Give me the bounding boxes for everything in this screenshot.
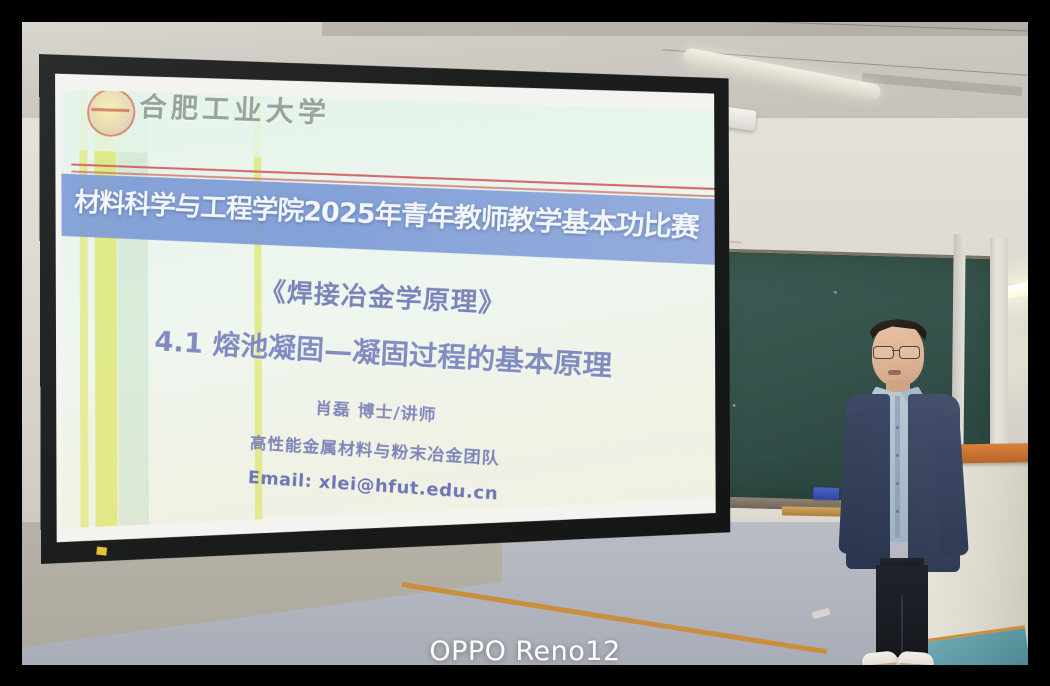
- slide-body: 《焊接冶金学原理》 4.1 熔池凝固—凝固过程的基本原理 肖磊 博士/讲师 高性…: [61, 262, 723, 519]
- lecture-hall-scene: MITSUBISHI: [22, 22, 1028, 665]
- glasses-lens-left: [873, 346, 894, 359]
- shirt-placket: [895, 396, 900, 538]
- presenter-person: [840, 322, 976, 665]
- blackboard-eraser[interactable]: [813, 487, 839, 500]
- projection-screen: 合肥工业大学 材料科学与工程学院2025年青年教师教学基本功比赛 《焊接冶金学原…: [39, 33, 745, 585]
- screen-corner-tab: [96, 546, 107, 555]
- glasses-bridge: [892, 350, 899, 351]
- ceiling-beam: [322, 22, 1028, 36]
- ceiling-panel: [862, 73, 1022, 96]
- mouth: [888, 370, 901, 375]
- shirt-button: [896, 510, 899, 513]
- camera-watermark: OPPO Reno12: [22, 636, 1028, 665]
- shirt-button: [896, 454, 899, 457]
- shirt-button: [896, 482, 899, 485]
- glasses-lens-right: [899, 346, 920, 359]
- glasses-icon: [873, 346, 923, 357]
- shirt-button: [896, 426, 899, 429]
- photo-frame: MITSUBISHI: [0, 0, 1050, 686]
